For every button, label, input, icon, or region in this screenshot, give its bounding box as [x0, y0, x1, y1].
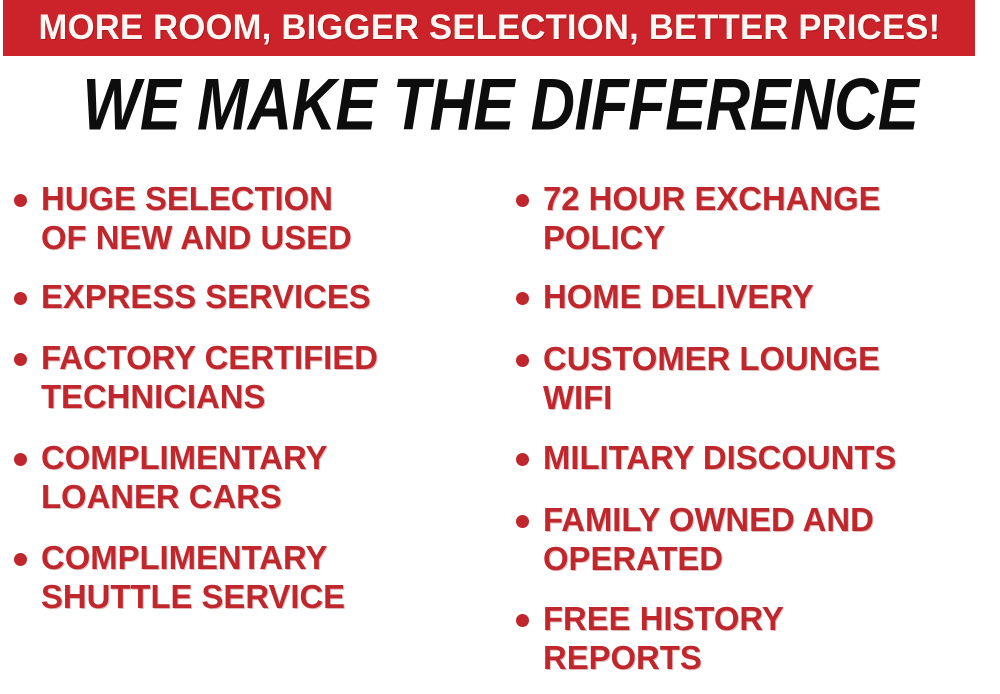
- bullet-item: MILITARY DISCOUNTS: [516, 438, 1000, 477]
- bullet-item: EXPRESS SERVICES: [14, 277, 500, 316]
- bullet-item: 72 HOUR EXCHANGE POLICY: [516, 179, 1000, 257]
- bullet-dot-icon: [516, 614, 529, 627]
- promo-poster: MORE ROOM, BIGGER SELECTION, BETTER PRIC…: [0, 0, 1000, 694]
- bullet-item-label: CUSTOMER LOUNGE WIFI: [543, 339, 880, 417]
- bullet-item: FAMILY OWNED AND OPERATED: [516, 500, 1000, 578]
- bullet-item-label: EXPRESS SERVICES: [41, 277, 371, 316]
- benefits-column-left: HUGE SELECTION OF NEW AND USEDEXPRESS SE…: [14, 160, 500, 694]
- banner-headline-text: MORE ROOM, BIGGER SELECTION, BETTER PRIC…: [38, 10, 940, 47]
- bullet-item: FACTORY CERTIFIED TECHNICIANS: [14, 338, 500, 416]
- bullet-dot-icon: [14, 292, 27, 305]
- bullet-item-label: HOME DELIVERY: [543, 277, 814, 316]
- bullet-item: COMPLIMENTARY SHUTTLE SERVICE: [14, 538, 500, 616]
- bullet-item-label: FREE HISTORY REPORTS: [543, 599, 784, 677]
- bullet-item-label: MILITARY DISCOUNTS: [543, 438, 896, 477]
- bullet-item-label: FACTORY CERTIFIED TECHNICIANS: [41, 338, 378, 416]
- main-headline: WE MAKE THE DIFFERENCE: [0, 68, 1000, 132]
- bullet-dot-icon: [516, 453, 529, 466]
- bullet-dot-icon: [14, 194, 27, 207]
- bullet-item-label: COMPLIMENTARY LOANER CARS: [41, 438, 327, 516]
- bullet-item: HOME DELIVERY: [516, 277, 1000, 316]
- top-banner: MORE ROOM, BIGGER SELECTION, BETTER PRIC…: [3, 0, 975, 56]
- bullet-item-label: FAMILY OWNED AND OPERATED: [543, 500, 874, 578]
- bullet-dot-icon: [14, 453, 27, 466]
- bullet-item: COMPLIMENTARY LOANER CARS: [14, 438, 500, 516]
- bullet-item: FREE HISTORY REPORTS: [516, 599, 1000, 677]
- bullet-item-label: HUGE SELECTION OF NEW AND USED: [41, 179, 352, 257]
- bullet-item: HUGE SELECTION OF NEW AND USED: [14, 179, 500, 257]
- bullet-dot-icon: [516, 515, 529, 528]
- bullet-item-label: COMPLIMENTARY SHUTTLE SERVICE: [41, 538, 345, 616]
- bullet-dot-icon: [14, 353, 27, 366]
- main-headline-text: WE MAKE THE DIFFERENCE: [82, 68, 918, 141]
- bullet-dot-icon: [516, 292, 529, 305]
- bullet-dot-icon: [516, 194, 529, 207]
- bullet-dot-icon: [516, 354, 529, 367]
- benefits-column-right: 72 HOUR EXCHANGE POLICYHOME DELIVERYCUST…: [516, 160, 1000, 694]
- bullet-item: CUSTOMER LOUNGE WIFI: [516, 339, 1000, 417]
- benefits-columns: HUGE SELECTION OF NEW AND USEDEXPRESS SE…: [0, 160, 1000, 694]
- bullet-dot-icon: [14, 553, 27, 566]
- bullet-item-label: 72 HOUR EXCHANGE POLICY: [543, 179, 881, 257]
